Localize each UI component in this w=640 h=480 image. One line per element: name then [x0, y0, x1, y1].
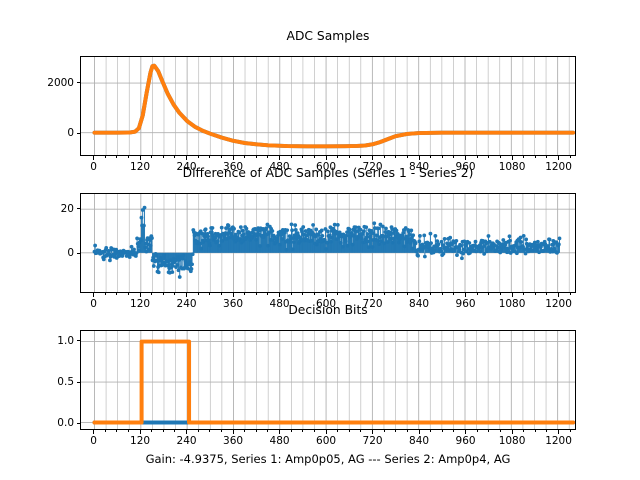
x-minor-tick-mark	[163, 156, 164, 158]
x-minor-tick-mark	[407, 293, 408, 295]
x-minor-tick-mark	[546, 156, 547, 158]
y-tick-label: 1.0	[12, 335, 74, 347]
x-minor-tick-mark	[244, 156, 245, 158]
x-tick-label: 600	[316, 435, 336, 447]
x-minor-tick-mark	[523, 430, 524, 432]
x-tick-label: 720	[363, 435, 383, 447]
x-minor-tick-mark	[198, 430, 199, 432]
x-minor-tick-mark	[384, 293, 385, 295]
x-tick-label: 0	[90, 161, 97, 173]
x-minor-tick-mark	[302, 430, 303, 432]
y-tick-label: 20	[12, 203, 74, 215]
x-minor-tick-mark	[442, 293, 443, 295]
x-tick-label: 360	[223, 435, 243, 447]
x-tick-label: 240	[177, 298, 197, 310]
x-tick-mark	[326, 156, 327, 160]
x-tick-label: 600	[316, 161, 336, 173]
x-minor-tick-mark	[314, 156, 315, 158]
x-tick-label: 240	[177, 435, 197, 447]
x-tick-label: 360	[223, 161, 243, 173]
subplot-1-plot-area	[81, 57, 575, 155]
x-tick-label: 720	[363, 161, 383, 173]
x-tick-mark	[186, 293, 187, 297]
x-tick-mark	[558, 430, 559, 434]
x-tick-mark	[279, 156, 280, 160]
x-minor-tick-mark	[407, 156, 408, 158]
x-tick-mark	[233, 293, 234, 297]
x-minor-tick-mark	[151, 293, 152, 295]
x-minor-tick-mark	[453, 293, 454, 295]
x-tick-label: 1080	[499, 435, 526, 447]
subplot-2-plot-area	[81, 194, 575, 292]
x-minor-tick-mark	[384, 156, 385, 158]
y-tick-mark	[77, 82, 81, 83]
x-tick-mark	[372, 293, 373, 297]
y-tick-label: 0	[12, 247, 74, 259]
x-tick-mark	[465, 156, 466, 160]
x-tick-label: 1200	[545, 435, 572, 447]
y-tick-label: 0	[12, 127, 74, 139]
x-tick-label: 0	[90, 435, 97, 447]
x-minor-tick-mark	[151, 156, 152, 158]
y-tick-mark	[77, 340, 81, 341]
x-tick-label: 480	[270, 435, 290, 447]
x-minor-tick-mark	[105, 430, 106, 432]
y-tick-label: 0.0	[12, 417, 74, 429]
y-tick-label: 2000	[12, 77, 74, 89]
x-tick-mark	[512, 430, 513, 434]
x-tick-mark	[558, 156, 559, 160]
x-minor-tick-mark	[477, 156, 478, 158]
y-tick-mark	[77, 382, 81, 383]
x-tick-mark	[140, 156, 141, 160]
x-minor-tick-mark	[488, 156, 489, 158]
y-tick-mark	[77, 423, 81, 424]
x-tick-label: 240	[177, 161, 197, 173]
x-minor-tick-mark	[442, 156, 443, 158]
x-tick-label: 480	[270, 298, 290, 310]
x-minor-tick-mark	[163, 430, 164, 432]
x-minor-tick-mark	[314, 293, 315, 295]
x-minor-tick-mark	[523, 156, 524, 158]
x-tick-mark	[558, 293, 559, 297]
x-tick-mark	[279, 430, 280, 434]
x-minor-tick-mark	[291, 430, 292, 432]
x-minor-tick-mark	[163, 293, 164, 295]
subplot-3-axes	[80, 330, 576, 430]
x-minor-tick-mark	[535, 293, 536, 295]
x-tick-mark	[326, 430, 327, 434]
x-minor-tick-mark	[430, 156, 431, 158]
figure-canvas: ADC Samples Difference of ADC Samples (S…	[0, 0, 640, 480]
subplot-3-plot-area	[81, 331, 575, 429]
x-minor-tick-mark	[198, 156, 199, 158]
x-minor-tick-mark	[349, 156, 350, 158]
x-minor-tick-mark	[267, 156, 268, 158]
x-minor-tick-mark	[105, 293, 106, 295]
x-tick-mark	[93, 430, 94, 434]
x-minor-tick-mark	[477, 293, 478, 295]
x-minor-tick-mark	[535, 430, 536, 432]
figure-xlabel: Gain: -4.9375, Series 1: Amp0p05, AG ---…	[80, 452, 576, 466]
x-minor-tick-mark	[291, 156, 292, 158]
x-minor-tick-mark	[116, 293, 117, 295]
x-minor-tick-mark	[488, 430, 489, 432]
x-tick-mark	[465, 430, 466, 434]
x-tick-mark	[186, 430, 187, 434]
x-tick-label: 600	[316, 298, 336, 310]
x-tick-mark	[233, 156, 234, 160]
x-minor-tick-mark	[302, 156, 303, 158]
x-minor-tick-mark	[535, 156, 536, 158]
x-tick-label: 1080	[499, 298, 526, 310]
x-minor-tick-mark	[267, 293, 268, 295]
x-minor-tick-mark	[360, 156, 361, 158]
x-minor-tick-mark	[174, 156, 175, 158]
x-tick-label: 0	[90, 298, 97, 310]
x-minor-tick-mark	[128, 156, 129, 158]
x-tick-mark	[419, 430, 420, 434]
x-minor-tick-mark	[198, 293, 199, 295]
x-minor-tick-mark	[174, 430, 175, 432]
x-tick-label: 120	[130, 161, 150, 173]
x-minor-tick-mark	[209, 430, 210, 432]
x-minor-tick-mark	[221, 430, 222, 432]
x-minor-tick-mark	[221, 293, 222, 295]
x-tick-label: 1200	[545, 161, 572, 173]
x-tick-mark	[326, 293, 327, 297]
x-minor-tick-mark	[209, 293, 210, 295]
y-tick-mark	[77, 253, 81, 254]
x-tick-label: 120	[130, 435, 150, 447]
x-tick-label: 360	[223, 298, 243, 310]
x-minor-tick-mark	[151, 430, 152, 432]
x-tick-mark	[186, 156, 187, 160]
x-tick-mark	[465, 293, 466, 297]
x-minor-tick-mark	[395, 156, 396, 158]
x-tick-mark	[419, 293, 420, 297]
x-tick-label: 720	[363, 298, 383, 310]
subplot-2-axes	[80, 193, 576, 293]
x-minor-tick-mark	[256, 293, 257, 295]
x-minor-tick-mark	[337, 293, 338, 295]
x-tick-label: 840	[409, 161, 429, 173]
x-tick-mark	[372, 430, 373, 434]
x-tick-label: 960	[456, 298, 476, 310]
x-minor-tick-mark	[244, 293, 245, 295]
x-tick-mark	[93, 156, 94, 160]
subplot-1-axes	[80, 56, 576, 156]
x-minor-tick-mark	[546, 430, 547, 432]
x-minor-tick-mark	[302, 293, 303, 295]
x-minor-tick-mark	[384, 430, 385, 432]
x-minor-tick-mark	[256, 156, 257, 158]
x-minor-tick-mark	[500, 156, 501, 158]
x-minor-tick-mark	[453, 430, 454, 432]
x-minor-tick-mark	[360, 293, 361, 295]
x-tick-mark	[279, 293, 280, 297]
x-minor-tick-mark	[209, 156, 210, 158]
y-tick-mark	[77, 133, 81, 134]
x-tick-label: 840	[409, 435, 429, 447]
x-tick-mark	[512, 156, 513, 160]
x-minor-tick-mark	[128, 293, 129, 295]
x-tick-mark	[372, 156, 373, 160]
x-minor-tick-mark	[337, 156, 338, 158]
x-minor-tick-mark	[128, 430, 129, 432]
x-minor-tick-mark	[174, 293, 175, 295]
x-minor-tick-mark	[221, 156, 222, 158]
x-minor-tick-mark	[523, 293, 524, 295]
x-minor-tick-mark	[546, 293, 547, 295]
x-minor-tick-mark	[349, 430, 350, 432]
x-minor-tick-mark	[291, 293, 292, 295]
x-tick-label: 840	[409, 298, 429, 310]
x-tick-label: 960	[456, 161, 476, 173]
x-tick-label: 120	[130, 298, 150, 310]
x-minor-tick-mark	[430, 430, 431, 432]
x-tick-label: 1200	[545, 298, 572, 310]
x-minor-tick-mark	[337, 430, 338, 432]
x-minor-tick-mark	[116, 156, 117, 158]
x-minor-tick-mark	[488, 293, 489, 295]
x-minor-tick-mark	[570, 156, 571, 158]
x-tick-mark	[233, 430, 234, 434]
x-minor-tick-mark	[570, 293, 571, 295]
x-tick-label: 960	[456, 435, 476, 447]
x-tick-label: 1080	[499, 161, 526, 173]
x-minor-tick-mark	[453, 156, 454, 158]
x-minor-tick-mark	[477, 430, 478, 432]
x-minor-tick-mark	[570, 430, 571, 432]
y-tick-label: 0.5	[12, 376, 74, 388]
x-tick-mark	[93, 293, 94, 297]
x-tick-mark	[512, 293, 513, 297]
x-minor-tick-mark	[395, 430, 396, 432]
x-minor-tick-mark	[349, 293, 350, 295]
x-minor-tick-mark	[267, 430, 268, 432]
x-tick-label: 480	[270, 161, 290, 173]
x-minor-tick-mark	[407, 430, 408, 432]
x-minor-tick-mark	[244, 430, 245, 432]
x-minor-tick-mark	[500, 430, 501, 432]
x-tick-mark	[140, 293, 141, 297]
x-minor-tick-mark	[395, 293, 396, 295]
x-minor-tick-mark	[500, 293, 501, 295]
x-tick-mark	[140, 430, 141, 434]
x-tick-mark	[419, 156, 420, 160]
y-tick-mark	[77, 208, 81, 209]
x-minor-tick-mark	[105, 156, 106, 158]
x-minor-tick-mark	[314, 430, 315, 432]
subplot-1-title: ADC Samples	[80, 29, 576, 43]
x-minor-tick-mark	[256, 430, 257, 432]
x-minor-tick-mark	[442, 430, 443, 432]
x-minor-tick-mark	[360, 430, 361, 432]
x-minor-tick-mark	[430, 293, 431, 295]
x-minor-tick-mark	[116, 430, 117, 432]
